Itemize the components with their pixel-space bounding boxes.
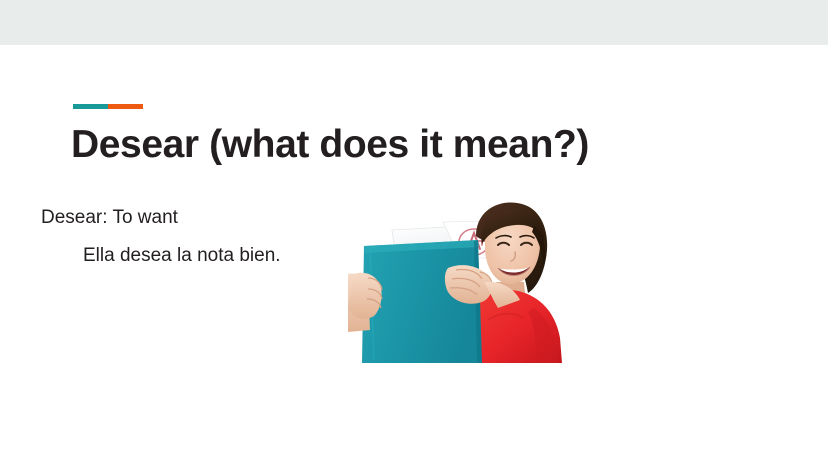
accent-rule-orange-segment — [108, 104, 143, 109]
slide: Desear (what does it mean?) Desear: To w… — [0, 0, 828, 466]
definition-text: Desear: To want — [41, 205, 178, 231]
page-title: Desear (what does it mean?) — [71, 120, 711, 170]
top-decorative-band — [0, 0, 828, 45]
title-accent-rule — [73, 104, 143, 109]
example-sentence-text: Ella desea la nota bien. — [83, 243, 281, 269]
accent-rule-teal-segment — [73, 104, 108, 109]
student-photo — [348, 200, 578, 363]
